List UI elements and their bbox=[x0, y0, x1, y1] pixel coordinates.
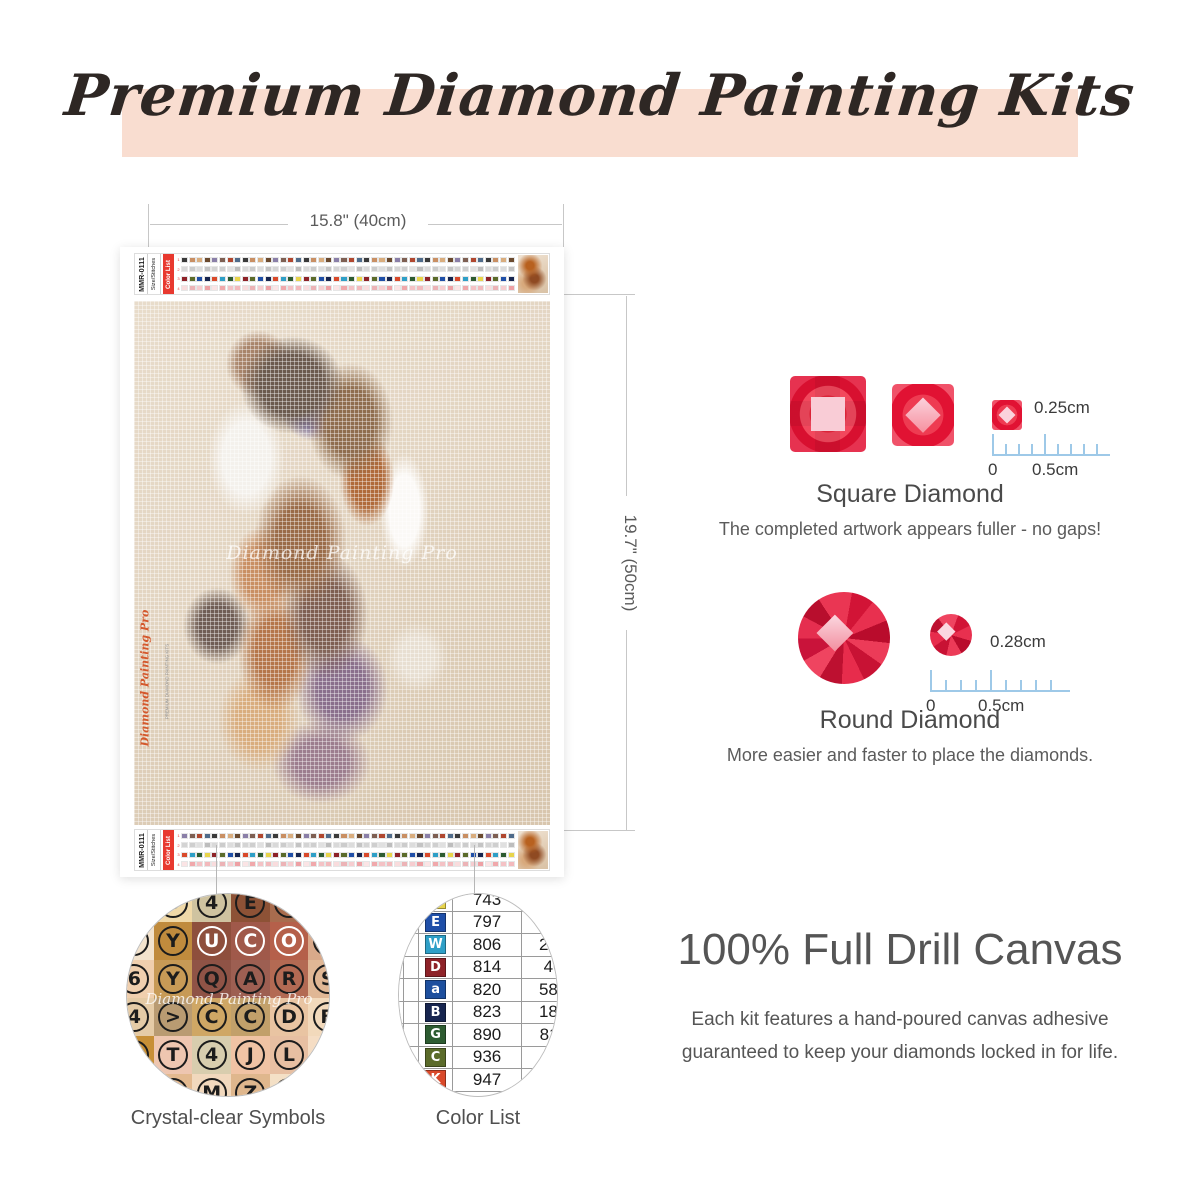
legend-swatch bbox=[227, 842, 234, 848]
legend-swatch bbox=[454, 257, 461, 263]
symbol-cell: E bbox=[231, 893, 270, 922]
legend-swatch bbox=[432, 285, 439, 291]
ruler-tick bbox=[1096, 444, 1098, 455]
color-row-count: 187 bbox=[522, 1001, 558, 1024]
legend-swatch bbox=[257, 276, 264, 282]
legend-swatch bbox=[227, 266, 234, 272]
legend-swatch bbox=[196, 266, 203, 272]
ruler-baseline bbox=[992, 454, 1110, 456]
color-swatch: G bbox=[425, 1025, 446, 1044]
legend-swatch bbox=[348, 257, 355, 263]
legend-swatch bbox=[454, 266, 461, 272]
ruler-tick bbox=[1050, 680, 1052, 691]
legend-swatch bbox=[378, 276, 385, 282]
legend-swatch bbox=[424, 861, 431, 867]
color-row-symbol: B bbox=[419, 1001, 453, 1024]
legend-swatch bbox=[371, 257, 378, 263]
legend-swatch bbox=[181, 833, 188, 839]
legend-swatch bbox=[447, 861, 454, 867]
legend-swatch bbox=[447, 833, 454, 839]
legend-swatch bbox=[371, 285, 378, 291]
legend-swatch bbox=[242, 852, 249, 858]
symbol-cell: Y bbox=[154, 922, 193, 960]
symbols-watermark: Diamond Painting Pro bbox=[127, 990, 330, 1008]
legend-swatch bbox=[227, 852, 234, 858]
legend-row: 2 bbox=[176, 265, 515, 275]
legend-swatch bbox=[333, 852, 340, 858]
color-row-symbol: W bbox=[419, 934, 453, 957]
color-swatch: J bbox=[425, 893, 446, 909]
legend-swatch bbox=[265, 842, 272, 848]
color-row-spacer bbox=[403, 893, 419, 911]
square-diamond-gem-medium bbox=[892, 384, 954, 446]
size-stitches: Size/Stitches bbox=[148, 830, 161, 870]
dimension-guide-line bbox=[148, 204, 149, 250]
legend-swatch bbox=[432, 257, 439, 263]
color-list-row: 19.a820586 bbox=[398, 979, 558, 1002]
legend-swatch bbox=[409, 861, 416, 867]
symbol-cell: U bbox=[192, 922, 231, 960]
legend-swatch bbox=[394, 842, 401, 848]
legend-swatch bbox=[265, 266, 272, 272]
legend-swatch bbox=[371, 852, 378, 858]
legend-swatch bbox=[318, 266, 325, 272]
legend-swatch bbox=[386, 842, 393, 848]
legend-swatch bbox=[234, 285, 241, 291]
legend-swatch bbox=[204, 285, 211, 291]
color-list-zoom-callout: J743E79747.W80620418.D8144019.a82058620.… bbox=[398, 893, 558, 1097]
legend-swatch bbox=[508, 257, 515, 263]
legend-swatch bbox=[227, 285, 234, 291]
symbol-cell: N bbox=[270, 893, 309, 922]
legend-swatch bbox=[454, 861, 461, 867]
legend-swatch bbox=[508, 861, 515, 867]
color-row-symbol: D bbox=[419, 956, 453, 979]
color-row-dmc-code: 743 bbox=[452, 893, 521, 911]
legend-swatch bbox=[432, 861, 439, 867]
color-list-table: J743E79747.W80620418.D8144019.a82058620.… bbox=[398, 893, 558, 1092]
legend-swatch bbox=[348, 276, 355, 282]
legend-swatch bbox=[242, 257, 249, 263]
canvas-thumbnail bbox=[518, 831, 548, 869]
legend-swatch bbox=[303, 833, 310, 839]
legend-swatch bbox=[181, 842, 188, 848]
legend-swatch bbox=[378, 833, 385, 839]
legend-row: 4 bbox=[176, 860, 515, 870]
legend-swatch bbox=[477, 257, 484, 263]
symbol-glyph: P bbox=[313, 893, 330, 918]
legend-swatch bbox=[295, 861, 302, 867]
full-drill-title: 100% Full Drill Canvas bbox=[620, 925, 1180, 975]
legend-swatch bbox=[492, 852, 499, 858]
legend-swatch bbox=[454, 852, 461, 858]
legend-swatch bbox=[363, 861, 370, 867]
symbol-cell: O bbox=[126, 893, 154, 922]
color-swatch: E bbox=[425, 913, 446, 932]
legend-swatch bbox=[416, 285, 423, 291]
legend-swatch bbox=[401, 852, 408, 858]
full-drill-line-1: Each kit features a hand-poured canvas a… bbox=[620, 1003, 1180, 1036]
symbol-glyph: M bbox=[197, 1078, 227, 1097]
round-diamond-gem-small bbox=[930, 614, 972, 656]
legend-swatch bbox=[196, 285, 203, 291]
legend-swatch bbox=[470, 833, 477, 839]
legend-swatch bbox=[462, 285, 469, 291]
legend-swatch bbox=[356, 285, 363, 291]
color-row-dmc-code: 820 bbox=[452, 979, 521, 1002]
legend-swatch bbox=[394, 285, 401, 291]
legend-swatch bbox=[303, 266, 310, 272]
legend-swatch bbox=[211, 852, 218, 858]
legend-swatch bbox=[356, 842, 363, 848]
round-diamond-subtitle: More easier and faster to place the diam… bbox=[630, 745, 1190, 766]
legend-swatch bbox=[318, 257, 325, 263]
legend-swatch bbox=[219, 842, 226, 848]
legend-swatch bbox=[424, 266, 431, 272]
legend-swatch bbox=[272, 257, 279, 263]
color-row-dmc-code: 814 bbox=[452, 956, 521, 979]
legend-cells bbox=[181, 833, 515, 839]
size-stitches-label: Size/Stitches bbox=[151, 258, 157, 290]
dimension-arrow-bottom bbox=[626, 630, 627, 830]
legend-swatch bbox=[439, 852, 446, 858]
legend-swatch bbox=[219, 276, 226, 282]
legend-swatch bbox=[477, 861, 484, 867]
legend-swatch bbox=[295, 276, 302, 282]
legend-swatch bbox=[356, 276, 363, 282]
legend-swatch bbox=[340, 276, 347, 282]
legend-swatch bbox=[470, 285, 477, 291]
legend-swatch bbox=[303, 852, 310, 858]
legend-swatch bbox=[462, 276, 469, 282]
legend-swatch bbox=[287, 285, 294, 291]
legend-swatch bbox=[363, 266, 370, 272]
symbol-cell: K bbox=[270, 1074, 309, 1097]
legend-row: 1 bbox=[176, 831, 515, 841]
legend-swatch bbox=[181, 852, 188, 858]
legend-swatch bbox=[265, 257, 272, 263]
legend-swatch bbox=[356, 833, 363, 839]
ruler-zero-label: 0 bbox=[988, 460, 997, 480]
legend-swatch bbox=[234, 257, 241, 263]
color-row-spacer bbox=[403, 956, 419, 979]
design-code-label: MMR-0111 bbox=[137, 833, 146, 868]
legend-swatch bbox=[500, 833, 507, 839]
symbol-glyph: 4 bbox=[197, 893, 227, 918]
ruler-tick bbox=[960, 680, 962, 691]
legend-swatch bbox=[234, 833, 241, 839]
ruler-tick bbox=[1005, 680, 1007, 691]
legend-swatch bbox=[401, 842, 408, 848]
legend-swatch bbox=[348, 266, 355, 272]
legend-swatch bbox=[318, 276, 325, 282]
legend-swatch bbox=[196, 842, 203, 848]
legend-swatch bbox=[340, 842, 347, 848]
legend-swatch bbox=[280, 861, 287, 867]
symbol-glyph: K bbox=[274, 1078, 304, 1097]
legend-swatch bbox=[211, 861, 218, 867]
symbol-cell: 2 bbox=[126, 1036, 154, 1074]
legend-swatch bbox=[401, 257, 408, 263]
legend-swatch bbox=[485, 861, 492, 867]
page-title: Premium Diamond Painting Kits bbox=[0, 62, 1200, 129]
legend-swatch bbox=[227, 861, 234, 867]
legend-swatch bbox=[394, 833, 401, 839]
ruler-tick bbox=[1005, 444, 1007, 455]
ruler-tick bbox=[1057, 444, 1059, 455]
color-list-row: 20.B823187 bbox=[398, 1001, 558, 1024]
legend-swatch bbox=[318, 842, 325, 848]
legend-swatch bbox=[394, 852, 401, 858]
legend-swatch bbox=[249, 861, 256, 867]
symbol-glyph: U bbox=[197, 926, 227, 956]
legend-swatch bbox=[295, 842, 302, 848]
legend-swatch bbox=[363, 276, 370, 282]
legend-swatch bbox=[227, 257, 234, 263]
legend-swatch bbox=[242, 266, 249, 272]
legend-swatch bbox=[242, 861, 249, 867]
color-row-dmc-code: 806 bbox=[452, 934, 521, 957]
legend-swatch bbox=[189, 276, 196, 282]
legend-swatch bbox=[424, 257, 431, 263]
color-list-row: 18.D81440 bbox=[398, 956, 558, 979]
ruler-tick bbox=[1083, 444, 1085, 455]
symbol-glyph: X bbox=[126, 1078, 149, 1097]
color-swatch: a bbox=[425, 980, 446, 999]
symbol-glyph: O bbox=[274, 926, 304, 956]
square-diamond-illustration: 0.25cm 0 0.5cm bbox=[630, 362, 1190, 474]
square-diamond-size-label: 0.25cm bbox=[1034, 398, 1090, 418]
legend-swatch bbox=[356, 852, 363, 858]
legend-swatch bbox=[371, 833, 378, 839]
legend-swatch bbox=[257, 852, 264, 858]
color-row-count: 811 bbox=[522, 1024, 558, 1047]
legend-swatch bbox=[234, 852, 241, 858]
color-row-symbol: a bbox=[419, 979, 453, 1002]
legend-swatch bbox=[424, 842, 431, 848]
legend-swatch bbox=[439, 257, 446, 263]
legend-swatch bbox=[196, 276, 203, 282]
legend-cells bbox=[181, 257, 515, 263]
legend-cells bbox=[181, 842, 515, 848]
legend-swatch bbox=[204, 276, 211, 282]
legend-swatch bbox=[265, 852, 272, 858]
legend-cells bbox=[181, 285, 515, 291]
full-drill-description: Each kit features a hand-poured canvas a… bbox=[620, 1003, 1180, 1070]
round-diamond-size-label: 0.28cm bbox=[990, 632, 1046, 652]
legend-swatch bbox=[325, 266, 332, 272]
legend-swatch bbox=[454, 285, 461, 291]
color-row-count: 40 bbox=[522, 956, 558, 979]
legend-swatch bbox=[211, 842, 218, 848]
symbol-cell: X bbox=[126, 1074, 154, 1097]
legend-swatch bbox=[508, 852, 515, 858]
legend-swatch bbox=[325, 276, 332, 282]
legend-swatch bbox=[219, 257, 226, 263]
legend-swatch bbox=[219, 833, 226, 839]
symbol-glyph: 4 bbox=[197, 1040, 227, 1070]
color-list-body: J743E79747.W80620418.D8144019.a82058620.… bbox=[398, 893, 558, 1091]
legend-swatch bbox=[340, 861, 347, 867]
legend-swatch bbox=[508, 276, 515, 282]
legend-cells bbox=[181, 266, 515, 272]
legend-swatch bbox=[394, 257, 401, 263]
legend-swatch bbox=[485, 833, 492, 839]
color-row-count: 586 bbox=[522, 979, 558, 1002]
legend-swatch bbox=[508, 285, 515, 291]
legend-swatch bbox=[219, 861, 226, 867]
ruler-tick bbox=[975, 680, 977, 691]
color-swatch: D bbox=[425, 958, 446, 977]
legend-swatch bbox=[310, 861, 317, 867]
design-code-label: MMR-0111 bbox=[137, 257, 146, 292]
legend-swatch bbox=[462, 833, 469, 839]
legend-swatch bbox=[181, 861, 188, 867]
color-list-row: K947 bbox=[398, 1069, 558, 1092]
legend-swatch bbox=[196, 257, 203, 263]
symbol-cell: M bbox=[192, 1074, 231, 1097]
ruler-half-label: 0.5cm bbox=[978, 696, 1024, 716]
dimension-guide-line bbox=[563, 204, 564, 250]
legend-swatch bbox=[500, 852, 507, 858]
color-list-tab: Color List bbox=[163, 254, 174, 294]
legend-swatch bbox=[242, 833, 249, 839]
legend-swatch bbox=[401, 266, 408, 272]
legend-swatch bbox=[409, 285, 416, 291]
legend-swatch bbox=[234, 266, 241, 272]
legend-swatch bbox=[181, 276, 188, 282]
legend-swatch bbox=[249, 285, 256, 291]
color-row-count bbox=[522, 1069, 558, 1092]
legend-swatch bbox=[348, 861, 355, 867]
symbol-glyph: N bbox=[274, 893, 304, 918]
legend-swatch bbox=[325, 842, 332, 848]
legend-swatch bbox=[371, 861, 378, 867]
legend-grid: 1 2 3 4 bbox=[176, 254, 515, 294]
legend-swatch bbox=[189, 257, 196, 263]
legend-cells bbox=[181, 276, 515, 282]
legend-swatch bbox=[280, 833, 287, 839]
symbol-cell: O bbox=[270, 922, 309, 960]
legend-swatch bbox=[432, 276, 439, 282]
legend-swatch bbox=[447, 842, 454, 848]
color-row-symbol: J bbox=[419, 893, 453, 911]
legend-swatch bbox=[386, 257, 393, 263]
design-code: MMR-0111 bbox=[135, 254, 148, 294]
legend-swatch bbox=[500, 257, 507, 263]
color-list-tab: Color List bbox=[163, 830, 174, 870]
legend-swatch bbox=[325, 852, 332, 858]
legend-swatch bbox=[416, 276, 423, 282]
legend-swatch bbox=[287, 266, 294, 272]
legend-swatch bbox=[378, 852, 385, 858]
legend-swatch bbox=[340, 257, 347, 263]
design-code: MMR-0111 bbox=[135, 830, 148, 870]
symbol-glyph: Y bbox=[158, 926, 188, 956]
legend-swatch bbox=[470, 257, 477, 263]
color-row-count bbox=[522, 893, 558, 911]
ruler-tick bbox=[992, 434, 994, 455]
legend-swatch bbox=[249, 842, 256, 848]
legend-swatch bbox=[333, 861, 340, 867]
legend-swatch bbox=[348, 852, 355, 858]
symbol-cell: I bbox=[126, 922, 154, 960]
legend-swatch bbox=[181, 285, 188, 291]
legend-swatch bbox=[287, 861, 294, 867]
legend-swatch bbox=[204, 266, 211, 272]
legend-swatch bbox=[447, 257, 454, 263]
ruler-tick bbox=[1031, 444, 1033, 455]
legend-swatch bbox=[211, 266, 218, 272]
legend-swatch bbox=[333, 842, 340, 848]
color-row-count: 204 bbox=[522, 934, 558, 957]
legend-swatch bbox=[348, 842, 355, 848]
legend-swatch bbox=[439, 842, 446, 848]
legend-swatch bbox=[310, 276, 317, 282]
legend-swatch bbox=[424, 833, 431, 839]
legend-swatch bbox=[492, 842, 499, 848]
symbol-glyph: T bbox=[313, 926, 330, 956]
color-row-spacer bbox=[403, 979, 419, 1002]
legend-cells bbox=[181, 861, 515, 867]
square-diamond-gem-small bbox=[992, 400, 1022, 430]
color-row-spacer bbox=[403, 1024, 419, 1047]
color-list-tab-label: Color List bbox=[165, 260, 172, 289]
round-diamond-illustration: 0.28cm 0 0.5cm bbox=[630, 588, 1190, 700]
legend-swatch bbox=[318, 861, 325, 867]
brand-logo: Diamond Painting Pro bbox=[139, 621, 152, 747]
legend-grid: 1 2 3 4 bbox=[176, 830, 515, 870]
legend-swatch bbox=[447, 276, 454, 282]
square-diamond-gem-large bbox=[790, 376, 866, 452]
ruler-tick bbox=[1020, 680, 1022, 691]
dimension-guide-line bbox=[563, 294, 635, 295]
legend-swatch bbox=[500, 266, 507, 272]
legend-swatch bbox=[257, 842, 264, 848]
legend-swatch bbox=[204, 861, 211, 867]
legend-swatch bbox=[424, 276, 431, 282]
legend-swatch bbox=[462, 842, 469, 848]
legend-swatch bbox=[348, 285, 355, 291]
legend-swatch bbox=[470, 276, 477, 282]
symbol-cell: T bbox=[154, 1036, 193, 1074]
legend-swatch bbox=[378, 861, 385, 867]
legend-swatch bbox=[447, 266, 454, 272]
legend-swatch bbox=[211, 276, 218, 282]
ruler-tick bbox=[1035, 680, 1037, 691]
color-row-dmc-code: 890 bbox=[452, 1024, 521, 1047]
ruler-tick bbox=[945, 680, 947, 691]
color-row-symbol: C bbox=[419, 1046, 453, 1069]
feature-square-diamond: 0.25cm 0 0.5cm Square Diamond The comple… bbox=[630, 362, 1190, 540]
legend-swatch bbox=[492, 257, 499, 263]
symbol-glyph: L bbox=[274, 1040, 304, 1070]
legend-swatch bbox=[356, 861, 363, 867]
legend-swatch bbox=[485, 257, 492, 263]
full-drill-section: 100% Full Drill Canvas Each kit features… bbox=[620, 925, 1180, 1070]
symbol-glyph: 2 bbox=[126, 1040, 149, 1070]
ruler-baseline bbox=[930, 690, 1070, 692]
legend-swatch bbox=[219, 266, 226, 272]
legend-swatch bbox=[454, 842, 461, 848]
legend-swatch bbox=[189, 266, 196, 272]
symbol-glyph: O bbox=[126, 893, 149, 918]
legend-swatch bbox=[325, 861, 332, 867]
symbol-glyph: H bbox=[313, 1040, 330, 1070]
legend-swatch bbox=[196, 833, 203, 839]
square-diamond-subtitle: The completed artwork appears fuller - n… bbox=[630, 519, 1190, 540]
legend-swatch bbox=[189, 285, 196, 291]
